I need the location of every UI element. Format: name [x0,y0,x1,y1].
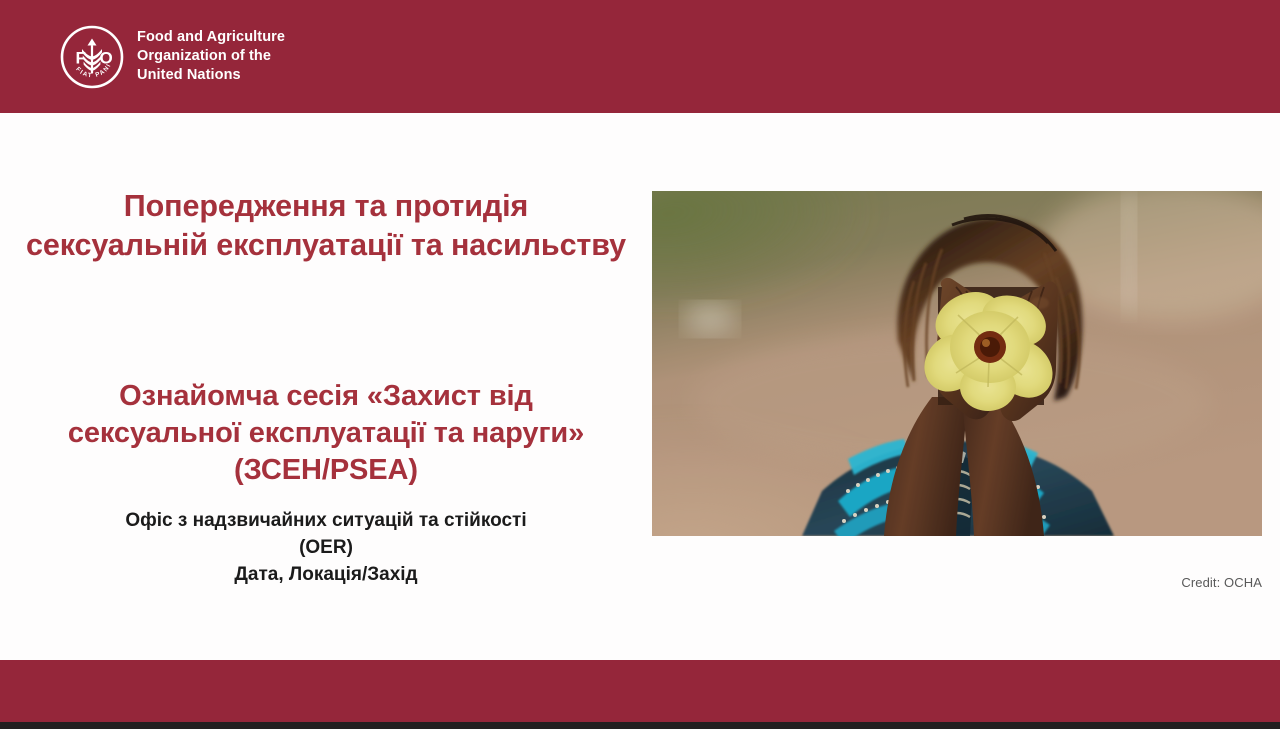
organizer-line2: (OER) [0,534,652,561]
fao-circular-emblem-icon: F O FIAT PANIS [60,25,124,89]
page-title-line2: сексуальній експлуатації та насильству [0,226,652,265]
fao-wordmark-line2: Organization of the [137,47,285,66]
footer-bottom-strip [0,722,1280,729]
hero-photo [652,191,1262,536]
slide-content: Попередження та протидія сексуальній екс… [0,113,1280,660]
page-subtitle-line3: (ЗСЕН/PSEA) [0,452,652,489]
text-column: Попередження та протидія сексуальній екс… [0,113,652,660]
footer-bar [0,660,1280,722]
organizer-line3: Дата, Локація/Захід [0,561,652,588]
fao-logo: F O FIAT PANIS Food and Agriculture Orga… [60,25,285,89]
page-subtitle-line1: Ознайомча сесія «Захист від [0,378,652,415]
hero-photo-image [652,191,1262,536]
header-bar: F O FIAT PANIS Food and Agriculture Orga… [0,0,1280,113]
photo-credit: Credit: OCHA [1100,575,1262,590]
organizer-line1: Офіс з надзвичайних ситуацій та стійкост… [0,507,652,534]
page-title: Попередження та протидія сексуальній екс… [0,187,652,265]
page-subtitle-line2: сексуальної експлуатації та наруги» [0,415,652,452]
page-title-line1: Попередження та протидія [0,187,652,226]
fao-wordmark-line3: United Nations [137,66,285,85]
organizer-block: Офіс з надзвичайних ситуацій та стійкост… [0,507,652,588]
fao-wordmark: Food and Agriculture Organization of the… [137,28,285,86]
page-subtitle: Ознайомча сесія «Захист від сексуальної … [0,378,652,489]
slide: F O FIAT PANIS Food and Agriculture Orga… [0,0,1280,729]
fao-wordmark-line1: Food and Agriculture [137,28,285,47]
svg-text:F: F [76,48,86,67]
